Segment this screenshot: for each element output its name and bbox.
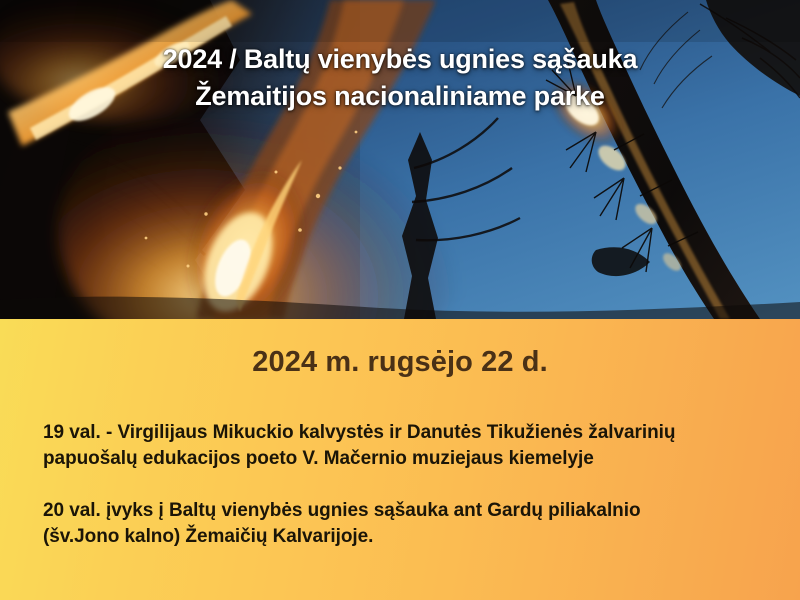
info-panel: 2024 m. rugsėjo 22 d. 19 val. - Virgilij… <box>0 319 800 600</box>
detail-paragraph-1: 19 val. - Virgilijaus Mikuckio kalvystės… <box>43 420 773 472</box>
detail-paragraph-2-line-2: (šv.Jono kalno) Žemaičių Kalvarijoje. <box>43 524 773 550</box>
photo-burning-pine-tree: 2024 / Baltų vienybės ugnies sąšauka Žem… <box>0 0 800 319</box>
detail-paragraph-2-line-1: 20 val. įvyks į Baltų vienybės ugnies są… <box>43 498 773 524</box>
photo-illustration <box>0 0 800 319</box>
event-details: 19 val. - Virgilijaus Mikuckio kalvystės… <box>43 420 773 550</box>
detail-paragraph-1-line-2: papuošalų edukacijos poeto V. Mačernio m… <box>43 446 773 472</box>
detail-paragraph-1-line-1: 19 val. - Virgilijaus Mikuckio kalvystės… <box>43 420 773 446</box>
event-date: 2024 m. rugsėjo 22 d. <box>0 346 800 379</box>
event-poster: 2024 / Baltų vienybės ugnies sąšauka Žem… <box>0 0 800 600</box>
detail-paragraph-2: 20 val. įvyks į Baltų vienybės ugnies są… <box>43 498 773 550</box>
